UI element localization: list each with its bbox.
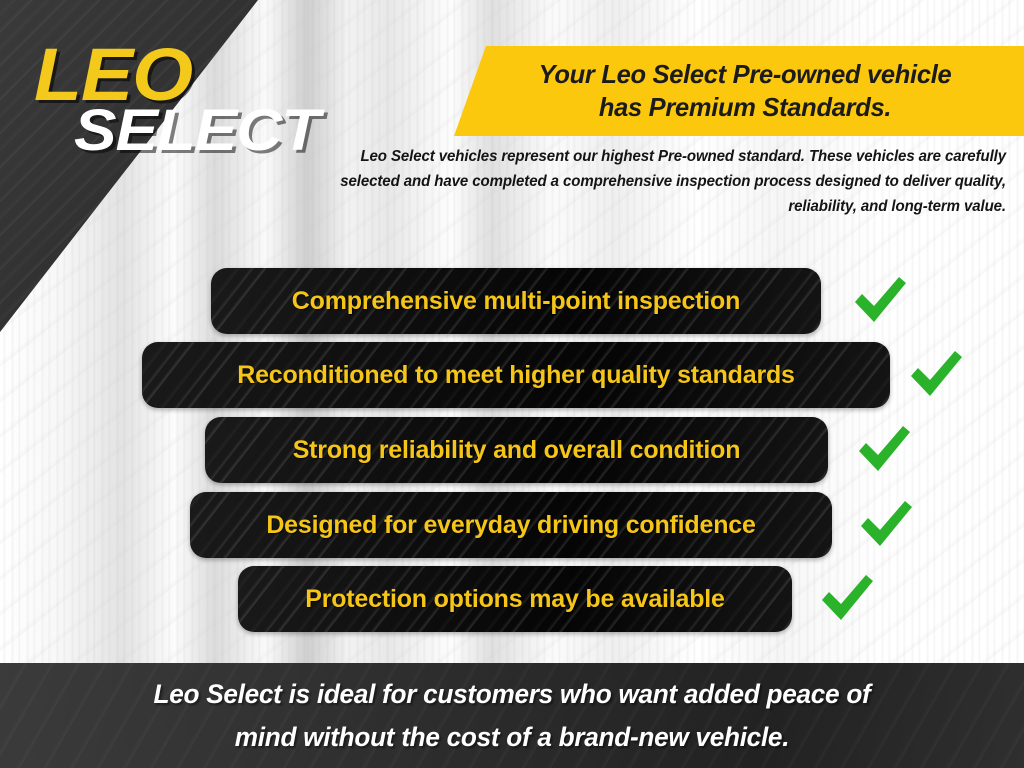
feature-pill: Reconditioned to meet higher quality sta… [142, 342, 890, 408]
feature-pill: Comprehensive multi-point inspection [211, 268, 821, 334]
green-check-icon [855, 496, 915, 554]
feature-pill: Protection options may be available [238, 566, 792, 632]
feature-row: Protection options may be available [238, 566, 928, 632]
headline-banner: Your Leo Select Pre-owned vehicle has Pr… [440, 46, 1024, 136]
feature-pill: Strong reliability and overall condition [205, 417, 828, 483]
feature-label: Designed for everyday driving confidence [266, 512, 755, 538]
feature-label: Comprehensive multi-point inspection [292, 288, 740, 314]
feature-label: Reconditioned to meet higher quality sta… [237, 362, 795, 388]
footer-line-1: Leo Select is ideal for customers who wa… [154, 679, 871, 709]
feature-row: Designed for everyday driving confidence [190, 492, 910, 558]
green-check-icon [905, 346, 965, 404]
feature-pill: Designed for everyday driving confidence [190, 492, 832, 558]
green-check-icon [849, 272, 909, 330]
leo-select-poster: LEO SELECT Your Leo Select Pre-owned veh… [0, 0, 1024, 768]
feature-label: Protection options may be available [305, 586, 725, 612]
headline-line-2: has Premium Standards. [599, 92, 891, 122]
headline-text: Your Leo Select Pre-owned vehicle has Pr… [480, 58, 1009, 124]
green-check-icon [853, 421, 913, 479]
feature-row: Strong reliability and overall condition [205, 417, 915, 483]
feature-row: Comprehensive multi-point inspection [211, 268, 911, 334]
green-check-icon [816, 570, 876, 628]
footer-line-2: mind without the cost of a brand-new veh… [235, 722, 789, 752]
brand-logo: LEO SELECT [34, 38, 334, 168]
footer-bar: Leo Select is ideal for customers who wa… [0, 663, 1024, 768]
feature-label: Strong reliability and overall condition [293, 437, 741, 463]
feature-row: Reconditioned to meet higher quality sta… [142, 342, 922, 408]
footer-text: Leo Select is ideal for customers who wa… [76, 673, 949, 759]
logo-text-select: SELECT [74, 102, 319, 160]
intro-paragraph: Leo Select vehicles represent our highes… [321, 144, 1006, 219]
headline-line-1: Your Leo Select Pre-owned vehicle [539, 59, 952, 89]
